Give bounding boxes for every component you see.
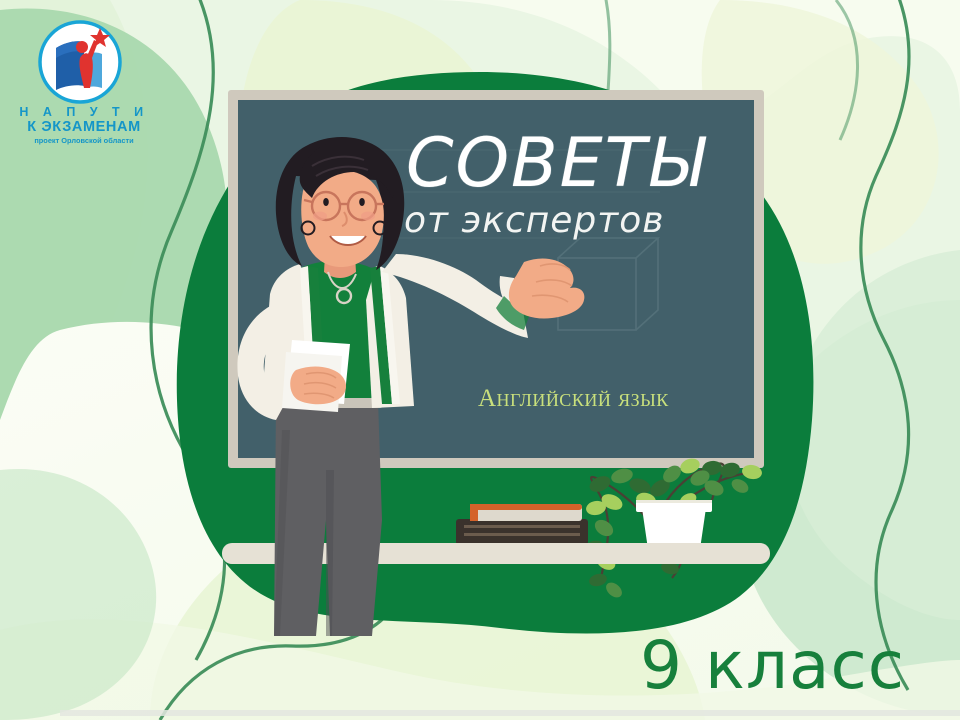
- project-logo: Н А П У Т И К ЭКЗАМЕНАМ проект Орловской…: [14, 14, 154, 144]
- poster-canvas: СОВЕТЫ от экспертов Английский язык: [0, 0, 960, 720]
- logo-emblem-icon: [34, 14, 126, 106]
- logo-line-3: проект Орловской области: [14, 136, 154, 145]
- logo-line-2: К ЭКЗАМЕНАМ: [14, 119, 154, 135]
- teacher-trousers: [274, 400, 382, 636]
- grade-label: 9 класс: [640, 626, 930, 706]
- logo-line-1: Н А П У Т И: [14, 106, 154, 119]
